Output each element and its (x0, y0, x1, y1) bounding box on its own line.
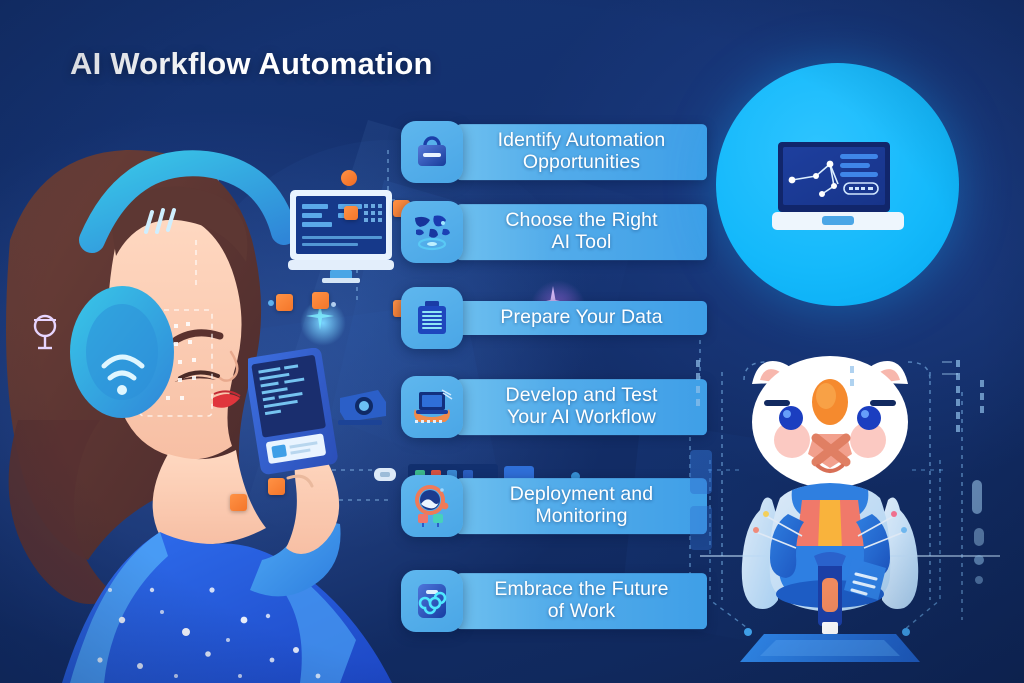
infinity-loop-icon (401, 570, 463, 632)
infographic-canvas: AI Workflow Automation (0, 0, 1024, 683)
shopping-bag-icon (401, 121, 463, 183)
world-map-icon (401, 201, 463, 263)
monitoring-gauge-icon (401, 475, 463, 537)
document-stack-icon (401, 287, 463, 349)
laptop-in-hands-icon (401, 376, 463, 438)
vignette-overlay (0, 0, 1024, 683)
